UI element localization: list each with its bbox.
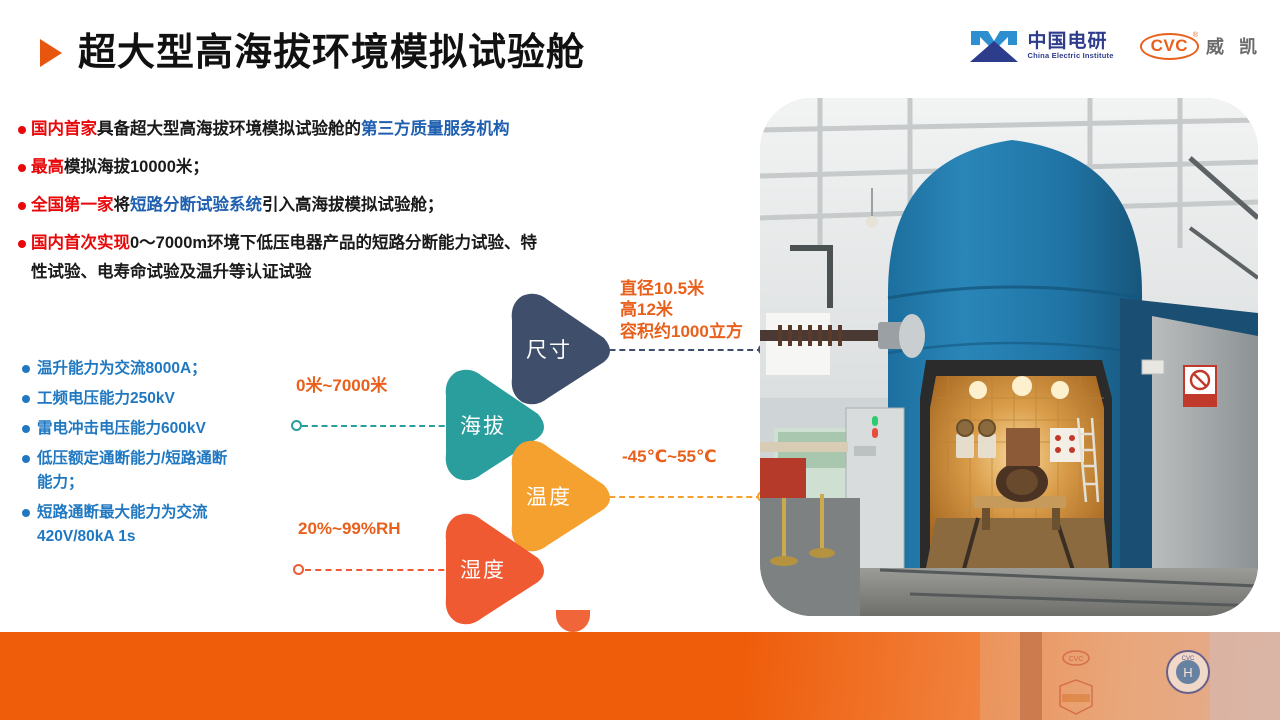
caption-altitude: 0米~7000米 [296, 375, 387, 396]
band-notch-icon [556, 610, 590, 632]
caption-dimension: 直径10.5米 高12米 容积约1000立方 [620, 278, 743, 342]
specs-list: 温升能力为交流8000A； 工频电压能力250kV 雷电冲击电压能力600kV … [22, 357, 312, 555]
bullet-dot-icon [22, 395, 30, 403]
parameters-diagram: 直径10.5米 高12米 容积约1000立方 尺寸 0米~7000米 海拔 -4… [280, 270, 780, 610]
list-item: 全国第一家将短路分断试验系统引入高海拔模拟试验舱； [18, 194, 638, 218]
page-title: 超大型高海拔环境模拟试验舱 [78, 34, 585, 72]
cvc-oval-logo-icon: CVC ® [1140, 33, 1199, 60]
spec-text: 温升能力为交流8000A； [37, 357, 207, 381]
cvc-name-cn: 威 凯 [1206, 33, 1262, 59]
footer-band: CVC H CVC [0, 632, 1280, 720]
china-electric-institute-logo: 中国电研 China Electric Institute [968, 28, 1114, 64]
spec-text-continuation: 能力； [37, 471, 312, 495]
cvc-certificate-photo: CVC H CVC [980, 632, 1280, 720]
spec-text: 短路通断最大能力为交流 [37, 501, 208, 525]
cvc-logo: CVC ® 威 凯 [1140, 33, 1262, 60]
slide-root: 超大型高海拔环境模拟试验舱 中国电研 China Electric Instit… [0, 0, 1280, 720]
bullet-dot-icon [18, 126, 26, 134]
bullet-dot-icon [22, 365, 30, 373]
highlight-text: 国内首次实现0～7000m环境下低压电器产品的短路分断能力试验、特 [31, 232, 537, 256]
highlight-text: 全国第一家将短路分断试验系统引入高海拔模拟试验舱； [31, 194, 444, 218]
svg-text:CVC: CVC [1182, 656, 1195, 662]
registered-mark-icon: ® [1193, 32, 1198, 39]
highlight-text: 国内首家具备超大型高海拔环境模拟试验舱的第三方质量服务机构 [31, 118, 510, 142]
page-title-row: 超大型高海拔环境模拟试验舱 [40, 34, 585, 72]
logo-group: 中国电研 China Electric Institute CVC ® 威 凯 [968, 28, 1263, 64]
spec-text-continuation: 420V/80kA 1s [37, 525, 312, 549]
spec-text: 工频电压能力250kV [37, 387, 175, 411]
bullet-dot-icon [22, 455, 30, 463]
list-item: 短路通断最大能力为交流 [22, 501, 312, 525]
diagram-node-label: 湿度 [440, 510, 552, 628]
list-item: 温升能力为交流8000A； [22, 357, 312, 381]
spec-text: 低压额定通断能力/短路通断 [37, 447, 227, 471]
diagram-node-humidity[interactable]: 湿度 [440, 510, 552, 628]
cei-name-en: China Electric Institute [1028, 51, 1114, 60]
highlights-list: 国内首家具备超大型高海拔环境模拟试验舱的第三方质量服务机构 最高模拟海拔1000… [18, 118, 638, 282]
connector-endpoint-altitude [291, 420, 302, 431]
svg-text:H: H [1183, 665, 1192, 680]
triangle-right-icon [40, 39, 62, 67]
bullet-dot-icon [22, 509, 30, 517]
caption-humidity: 20%~99%RH [298, 518, 401, 539]
list-item: 雷电冲击电压能力600kV [22, 417, 312, 441]
cei-name-cn: 中国电研 [1028, 32, 1114, 52]
cei-wordmark: 中国电研 China Electric Institute [1028, 32, 1114, 61]
list-item: 工频电压能力250kV [22, 387, 312, 411]
list-item: 最高模拟海拔10000米； [18, 156, 638, 180]
list-item: 低压额定通断能力/短路通断 [22, 447, 312, 471]
connector-endpoint-humidity [293, 564, 304, 575]
svg-text:CVC: CVC [1069, 656, 1084, 663]
caption-temperature: -45℃~55℃ [622, 446, 717, 467]
cvc-abbr: CVC [1151, 36, 1188, 55]
bullet-dot-icon [18, 202, 26, 210]
bullet-dot-icon [22, 425, 30, 433]
spec-text: 雷电冲击电压能力600kV [37, 417, 206, 441]
mountain-logo-icon [968, 28, 1020, 64]
list-item: 国内首次实现0～7000m环境下低压电器产品的短路分断能力试验、特 [18, 232, 638, 256]
list-item: 国内首家具备超大型高海拔环境模拟试验舱的第三方质量服务机构 [18, 118, 638, 142]
test-chamber-photo [760, 98, 1258, 616]
bullet-dot-icon [18, 164, 26, 172]
bullet-dot-icon [18, 240, 26, 248]
highlight-text: 最高模拟海拔10000米； [31, 156, 209, 180]
